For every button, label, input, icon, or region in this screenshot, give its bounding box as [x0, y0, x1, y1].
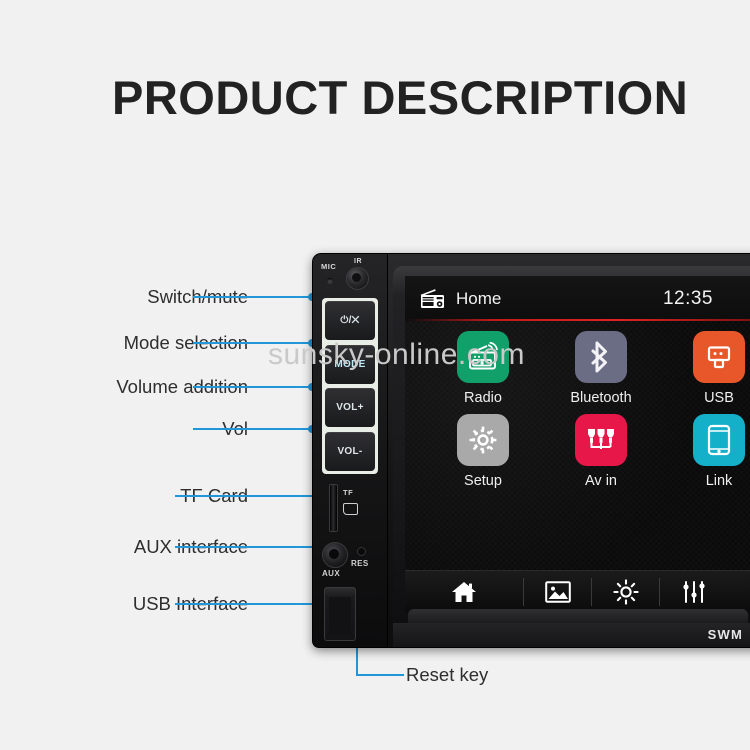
callout-leader-switch-mute [193, 296, 312, 298]
reset-label: RES [351, 559, 369, 568]
callout-leader-usb-interface [175, 603, 330, 605]
gear-app-icon [457, 414, 509, 466]
taskbar-home[interactable] [405, 571, 523, 613]
status-bar: Home 12:35 [405, 276, 750, 321]
tf-card-opening [329, 484, 338, 532]
app-usb[interactable]: USB [671, 331, 750, 406]
callout-leader-aux-interface [175, 546, 325, 548]
home-icon [451, 580, 477, 604]
taskbar-brightness[interactable] [592, 571, 659, 613]
status-bar-clock: 12:35 [663, 288, 713, 310]
power-mute-button-label: ⏻/✕ [340, 315, 359, 326]
ir-receiver-icon [346, 267, 369, 290]
button-cluster: ⏻/✕ MODE VOL+ VOL- [322, 298, 378, 474]
callout-leader-volume-addition [193, 386, 312, 388]
radio-icon [420, 288, 446, 309]
app-bluetooth[interactable]: Bluetooth [553, 331, 649, 406]
device-chin: SWM [393, 623, 750, 647]
app-label-av-in: Av in [585, 473, 617, 489]
callout-label-reset-key: Reset key [406, 664, 488, 686]
watermark: sunsky-online.com [268, 338, 525, 372]
app-link[interactable]: Link [671, 414, 750, 489]
av-in-app-icon [575, 414, 627, 466]
app-setup[interactable]: Setup [435, 414, 531, 489]
taskbar-wallpaper[interactable] [524, 571, 591, 613]
tf-card-slot[interactable]: TF [324, 482, 376, 534]
link-app-icon [693, 414, 745, 466]
device-faceplate: MIC IR ⏻/✕ MODE VOL+ VOL- TF [313, 254, 388, 647]
screen-bezel: Home 12:35 [393, 266, 750, 635]
task-bar [405, 570, 750, 613]
aux-label: AUX [322, 569, 340, 578]
callout-leader-tf-card [175, 495, 330, 497]
app-label-usb: USB [704, 390, 734, 406]
touch-screen[interactable]: Home 12:35 [405, 276, 750, 613]
app-av-in[interactable]: Av in [553, 414, 649, 489]
equalizer-icon [681, 580, 707, 604]
car-stereo-device: MIC IR ⏻/✕ MODE VOL+ VOL- TF [312, 253, 750, 648]
usb-slot[interactable] [324, 587, 356, 641]
app-label-radio: Radio [464, 390, 502, 406]
app-label-link: Link [706, 473, 733, 489]
app-label-bluetooth: Bluetooth [570, 390, 631, 406]
power-mute-button[interactable]: ⏻/✕ [325, 301, 375, 340]
ir-label: IR [354, 258, 362, 265]
status-bar-title: Home [456, 289, 501, 309]
reset-hole[interactable] [357, 547, 366, 556]
usb-app-icon [693, 331, 745, 383]
wallpaper-icon [545, 581, 571, 603]
volume-up-button[interactable]: VOL+ [325, 388, 375, 427]
volume-down-button-label: VOL- [337, 446, 362, 457]
volume-down-button[interactable]: VOL- [325, 432, 375, 471]
sd-card-icon [343, 503, 358, 515]
bluetooth-app-icon [575, 331, 627, 383]
volume-up-button-label: VOL+ [336, 402, 364, 413]
product-description-image: PRODUCT DESCRIPTION Switch/mute Mode sel… [0, 0, 750, 750]
brightness-icon [613, 579, 639, 605]
tf-card-label: TF [343, 488, 353, 497]
brand-logo: SWM [708, 627, 743, 642]
callout-leader-reset-key [356, 674, 404, 676]
mic-label: MIC [321, 262, 336, 271]
microphone-hole [327, 278, 333, 284]
callout-leader-vol [193, 428, 312, 430]
page-title: PRODUCT DESCRIPTION [112, 70, 688, 125]
app-label-setup: Setup [464, 473, 502, 489]
taskbar-equalizer[interactable] [660, 571, 727, 613]
aux-jack[interactable] [322, 542, 348, 568]
